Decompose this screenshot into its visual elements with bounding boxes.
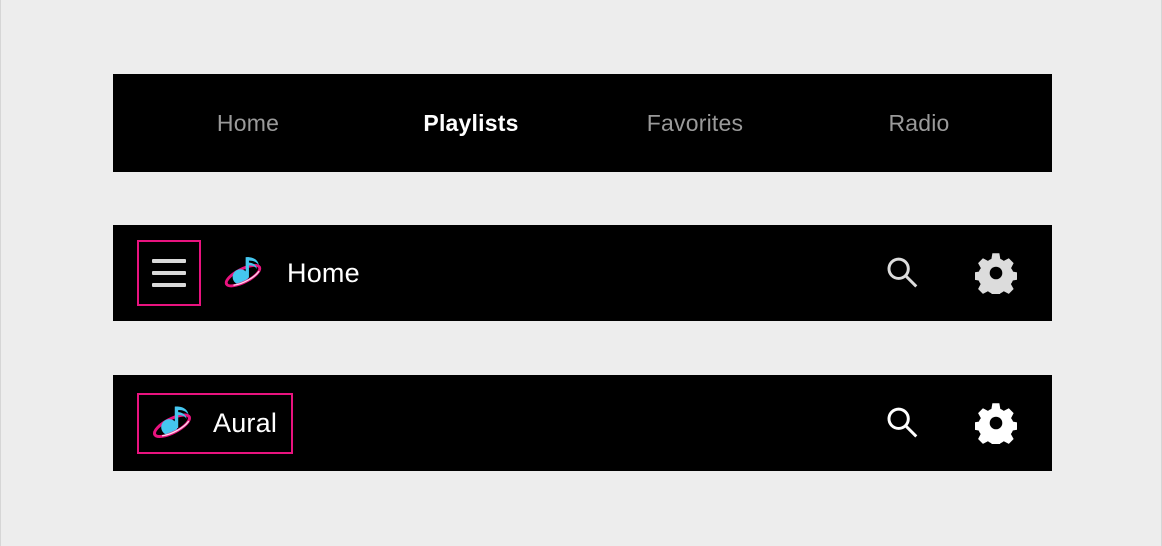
search-button[interactable] bbox=[880, 401, 924, 445]
tab-radio[interactable]: Radio bbox=[807, 110, 1031, 137]
aural-planet-note-logo bbox=[221, 251, 265, 295]
top-tab-navigation-bar: Home Playlists Favorites Radio bbox=[113, 74, 1052, 172]
hamburger-menu-button[interactable] bbox=[137, 240, 201, 306]
settings-button[interactable] bbox=[974, 251, 1018, 295]
tab-list: Home Playlists Favorites Radio bbox=[113, 74, 1052, 172]
tab-favorites[interactable]: Favorites bbox=[583, 110, 807, 137]
app-bar-home: Home bbox=[113, 225, 1052, 321]
search-icon bbox=[881, 252, 923, 294]
settings-button[interactable] bbox=[974, 401, 1018, 445]
hamburger-line-middle bbox=[152, 271, 186, 275]
aural-planet-note-logo bbox=[149, 400, 195, 446]
search-button[interactable] bbox=[880, 251, 924, 295]
tab-playlists[interactable]: Playlists bbox=[359, 110, 583, 137]
brand-button[interactable]: Aural bbox=[137, 393, 293, 454]
app-bar-aural-title: Aural bbox=[213, 408, 277, 439]
hamburger-line-top bbox=[152, 259, 186, 263]
tab-home[interactable]: Home bbox=[137, 110, 359, 137]
gear-icon bbox=[975, 252, 1017, 294]
hamburger-line-bottom bbox=[152, 283, 186, 287]
search-icon bbox=[881, 402, 923, 444]
app-bar-aural-content: Aural bbox=[113, 375, 1052, 471]
screen-canvas: Home Playlists Favorites Radio bbox=[0, 0, 1162, 546]
app-bar-home-title: Home bbox=[287, 258, 360, 289]
gear-icon bbox=[975, 402, 1017, 444]
app-bar-aural: Aural bbox=[113, 375, 1052, 471]
app-bar-home-content: Home bbox=[113, 225, 1052, 321]
